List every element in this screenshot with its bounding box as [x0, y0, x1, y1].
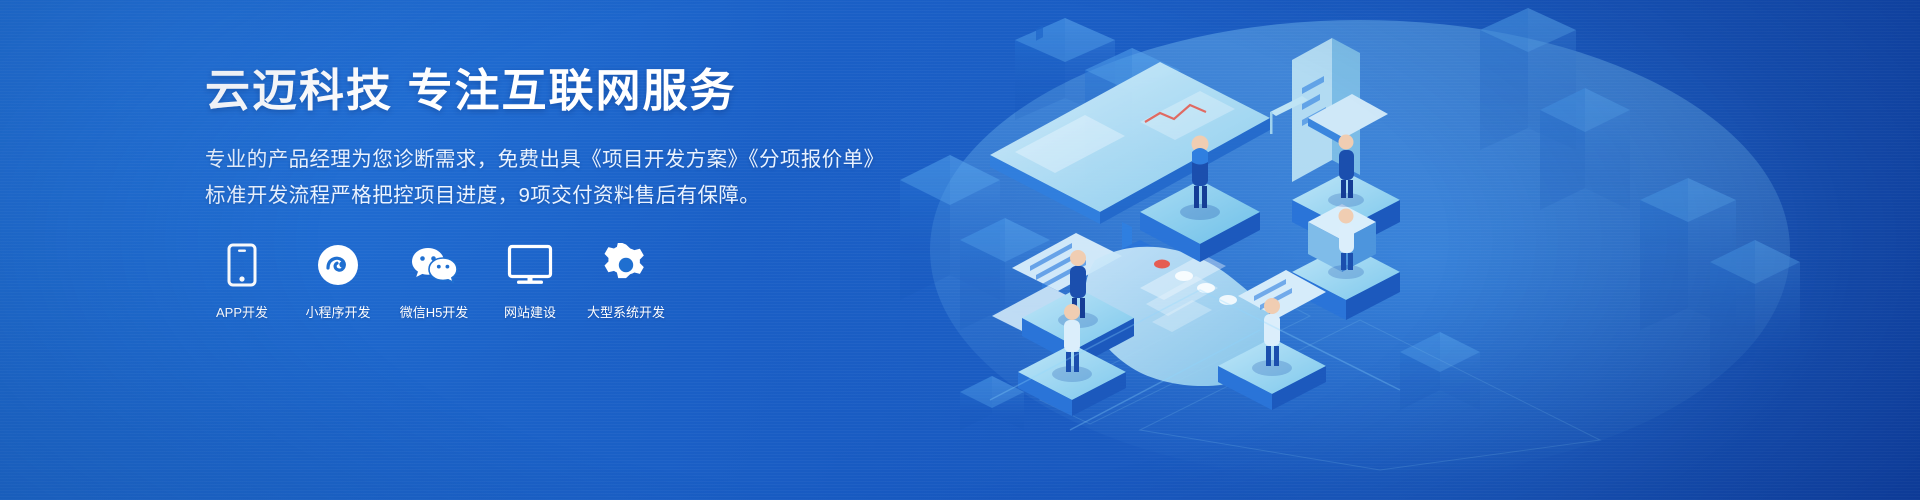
service-item-large-system[interactable]: 大型系统开发	[589, 242, 663, 321]
service-label-large-system: 大型系统开发	[587, 302, 665, 321]
page-title: 云迈科技 专注互联网服务	[205, 66, 905, 116]
service-label-website: 网站建设	[504, 302, 556, 321]
monitor-icon	[507, 242, 553, 288]
gear-icon	[604, 242, 648, 288]
service-item-website[interactable]: 网站建设	[493, 242, 567, 321]
mini-program-icon	[317, 242, 359, 288]
hero-content: 云迈科技 专注互联网服务 专业的产品经理为您诊断需求，免费出具《项目开发方案》《…	[205, 66, 905, 321]
subtitle-line-1: 专业的产品经理为您诊断需求，免费出具《项目开发方案》《分项报价单》	[205, 142, 905, 178]
service-item-app[interactable]: APP开发	[205, 242, 279, 321]
service-label-app: APP开发	[216, 302, 268, 321]
wechat-icon	[410, 242, 458, 288]
mobile-phone-icon	[227, 242, 257, 288]
service-label-wechat-h5: 微信H5开发	[400, 302, 469, 321]
hero-illustration	[840, 0, 1920, 500]
service-icon-row: APP开发 小程序开发	[205, 242, 905, 321]
hero-banner: 云迈科技 专注互联网服务 专业的产品经理为您诊断需求，免费出具《项目开发方案》《…	[0, 0, 1920, 500]
subtitle-line-2: 标准开发流程严格把控项目进度，9项交付资料售后有保障。	[205, 178, 905, 214]
service-item-wechat-h5[interactable]: 微信H5开发	[397, 242, 471, 321]
service-item-mini-program[interactable]: 小程序开发	[301, 242, 375, 321]
service-label-mini-program: 小程序开发	[305, 302, 370, 321]
